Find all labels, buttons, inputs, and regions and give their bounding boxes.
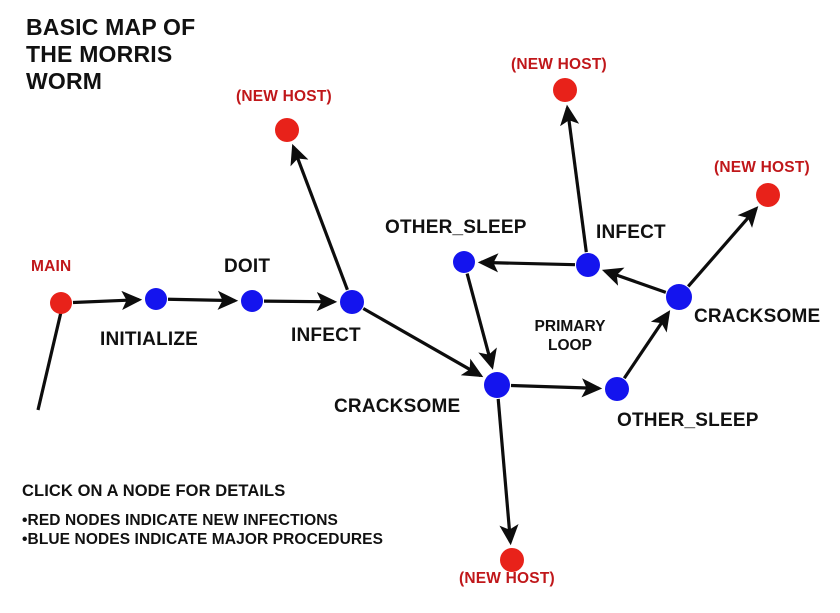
node-cracksome_r[interactable] [666,284,692,310]
node-other_sleep_tl[interactable] [453,251,475,273]
edge-infect_left-to-host_top_left [293,147,347,290]
node-host_top_right[interactable] [756,183,780,207]
legend-line-red: •RED NODES INDICATE NEW INFECTIONS [22,511,383,530]
edge-other_sleep_tl-to-cracksome_c [467,274,492,367]
edge-layer [38,108,756,542]
label-doit: DOIT [224,256,270,278]
node-cracksome_c[interactable] [484,372,510,398]
edge-cracksome_r-to-host_top_right [688,209,756,287]
edge-main-to-initialize [73,300,139,303]
label-infect_left: INFECT [291,325,361,347]
edge-doit-to-infect_left [264,301,334,302]
label-host_top_mid: (NEW HOST) [511,56,607,74]
node-host_top_mid[interactable] [553,78,577,102]
edge-cracksome_c-to-host_bottom [498,399,510,542]
edge-infect_right-to-other_sleep_tl [481,262,575,264]
edge-infect_left-to-cracksome_c [363,308,480,375]
legend-heading: CLICK ON A NODE FOR DETAILS [22,482,383,501]
node-main[interactable] [50,292,72,314]
label-other_sleep_br: OTHER_SLEEP [617,410,759,432]
label-cracksome_c: CRACKSOME [334,396,460,418]
page-title: BASIC MAP OF THE MORRIS WORM [26,14,195,95]
legend-line-blue: •BLUE NODES INDICATE MAJOR PROCEDURES [22,530,383,549]
node-host_top_left[interactable] [275,118,299,142]
label-host_top_left: (NEW HOST) [236,88,332,106]
edge-other_sleep_br-to-cracksome_r [624,313,668,378]
morris-worm-map: BASIC MAP OF THE MORRIS WORM MAININITIAL… [0,0,840,613]
legend: CLICK ON A NODE FOR DETAILS •RED NODES I… [22,482,383,550]
node-infect_left[interactable] [340,290,364,314]
label-initialize: INITIALIZE [100,329,198,351]
node-initialize[interactable] [145,288,167,310]
edge-cracksome_c-to-other_sleep_br [511,385,599,388]
edge-cracksome_r-to-infect_right [605,271,666,292]
node-host_bottom[interactable] [500,548,524,572]
edge-infect_right-to-host_top_mid [567,108,586,252]
edge-main-tail [38,312,61,410]
node-doit[interactable] [241,290,263,312]
node-infect_right[interactable] [576,253,600,277]
label-infect_right: INFECT [596,222,666,244]
label-host_top_right: (NEW HOST) [714,159,810,177]
label-cracksome_r: CRACKSOME [694,306,820,328]
primary-loop-annotation: PRIMARY LOOP [535,318,606,355]
label-main: MAIN [31,258,71,276]
label-host_bottom: (NEW HOST) [459,570,555,588]
label-other_sleep_tl: OTHER_SLEEP [385,217,527,239]
node-other_sleep_br[interactable] [605,377,629,401]
edge-initialize-to-doit [168,299,235,300]
